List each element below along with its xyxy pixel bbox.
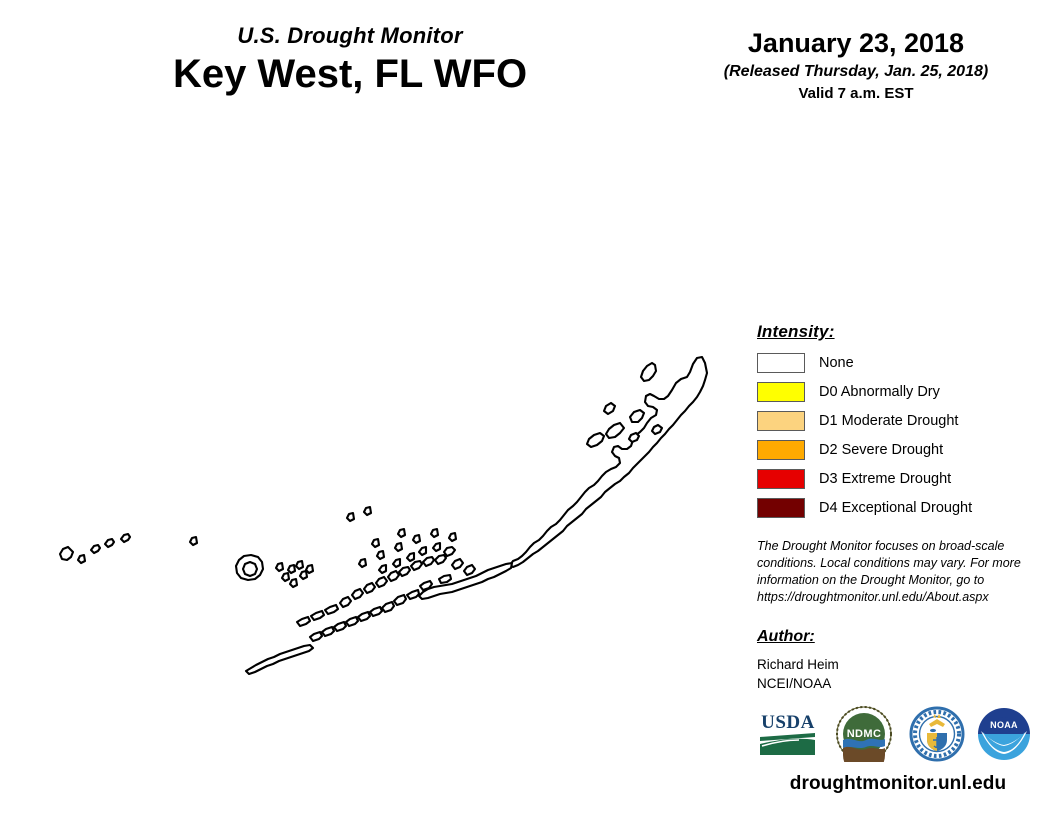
florida-keys-outline (60, 357, 707, 674)
usda-seal-logo[interactable] (907, 706, 967, 762)
legend-label-d0: D0 Abnormally Dry (819, 384, 940, 400)
release-date: (Released Thursday, Jan. 25, 2018) (672, 62, 1040, 81)
legend-item-d1[interactable]: D1 Moderate Drought (757, 409, 1047, 433)
svg-text:USDA: USDA (761, 712, 815, 733)
drought-monitor-page: U.S. Drought Monitor Key West, FL WFO Ja… (0, 0, 1056, 816)
legend-label-d4: D4 Exceptional Drought (819, 500, 972, 516)
map-date: January 23, 2018 (672, 28, 1040, 59)
author-name: Richard Heim (757, 656, 1037, 675)
legend-item-none[interactable]: None (757, 351, 1047, 375)
legend-swatch-d3 (757, 469, 805, 489)
footer-url[interactable]: droughtmonitor.unl.edu (742, 773, 1054, 795)
intensity-legend: Intensity: None D0 Abnormally Dry D1 Mod… (757, 322, 1047, 525)
legend-swatch-d1 (757, 411, 805, 431)
legend-label-none: None (819, 355, 854, 371)
disclaimer-line-2: conditions. Local conditions may vary. F… (757, 555, 1025, 572)
disclaimer-text: The Drought Monitor focuses on broad-sca… (757, 538, 1025, 606)
disclaimer-line-1: The Drought Monitor focuses on broad-sca… (757, 538, 1025, 555)
legend-swatch-none (757, 353, 805, 373)
author-heading: Author: (757, 628, 1037, 646)
noaa-logo[interactable]: NOAA (975, 706, 1033, 762)
page-title: Key West, FL WFO (0, 52, 700, 97)
map-canvas[interactable] (0, 115, 745, 675)
legend-item-d3[interactable]: D3 Extreme Drought (757, 467, 1047, 491)
ndmc-logo[interactable]: NDMC (835, 706, 893, 762)
program-subtitle: U.S. Drought Monitor (0, 24, 700, 48)
disclaimer-line-3: information on the Drought Monitor, go t… (757, 572, 1025, 589)
legend-label-d1: D1 Moderate Drought (819, 413, 958, 429)
svg-text:NDMC: NDMC (847, 728, 882, 740)
legend-item-d0[interactable]: D0 Abnormally Dry (757, 380, 1047, 404)
author-details: Richard Heim NCEI/NOAA (757, 656, 1037, 693)
svg-text:NOAA: NOAA (990, 720, 1018, 730)
usda-logo[interactable]: USDA (757, 706, 819, 758)
legend-title: Intensity: (757, 322, 1047, 342)
legend-swatch-d4 (757, 498, 805, 518)
partner-logos: USDA NDMC (757, 706, 1047, 764)
header-right: January 23, 2018 (Released Thursday, Jan… (672, 28, 1040, 103)
legend-swatch-d0 (757, 382, 805, 402)
legend-item-d2[interactable]: D2 Severe Drought (757, 438, 1047, 462)
header-left: U.S. Drought Monitor Key West, FL WFO (0, 24, 700, 97)
legend-swatch-d2 (757, 440, 805, 460)
author-affiliation: NCEI/NOAA (757, 675, 1037, 694)
author-block: Author: Richard Heim NCEI/NOAA (757, 628, 1037, 693)
legend-label-d2: D2 Severe Drought (819, 442, 943, 458)
valid-time: Valid 7 a.m. EST (672, 85, 1040, 103)
legend-item-d4[interactable]: D4 Exceptional Drought (757, 496, 1047, 520)
disclaimer-link[interactable]: https://droughtmonitor.unl.edu/About.asp… (757, 589, 1025, 606)
legend-label-d3: D3 Extreme Drought (819, 471, 951, 487)
